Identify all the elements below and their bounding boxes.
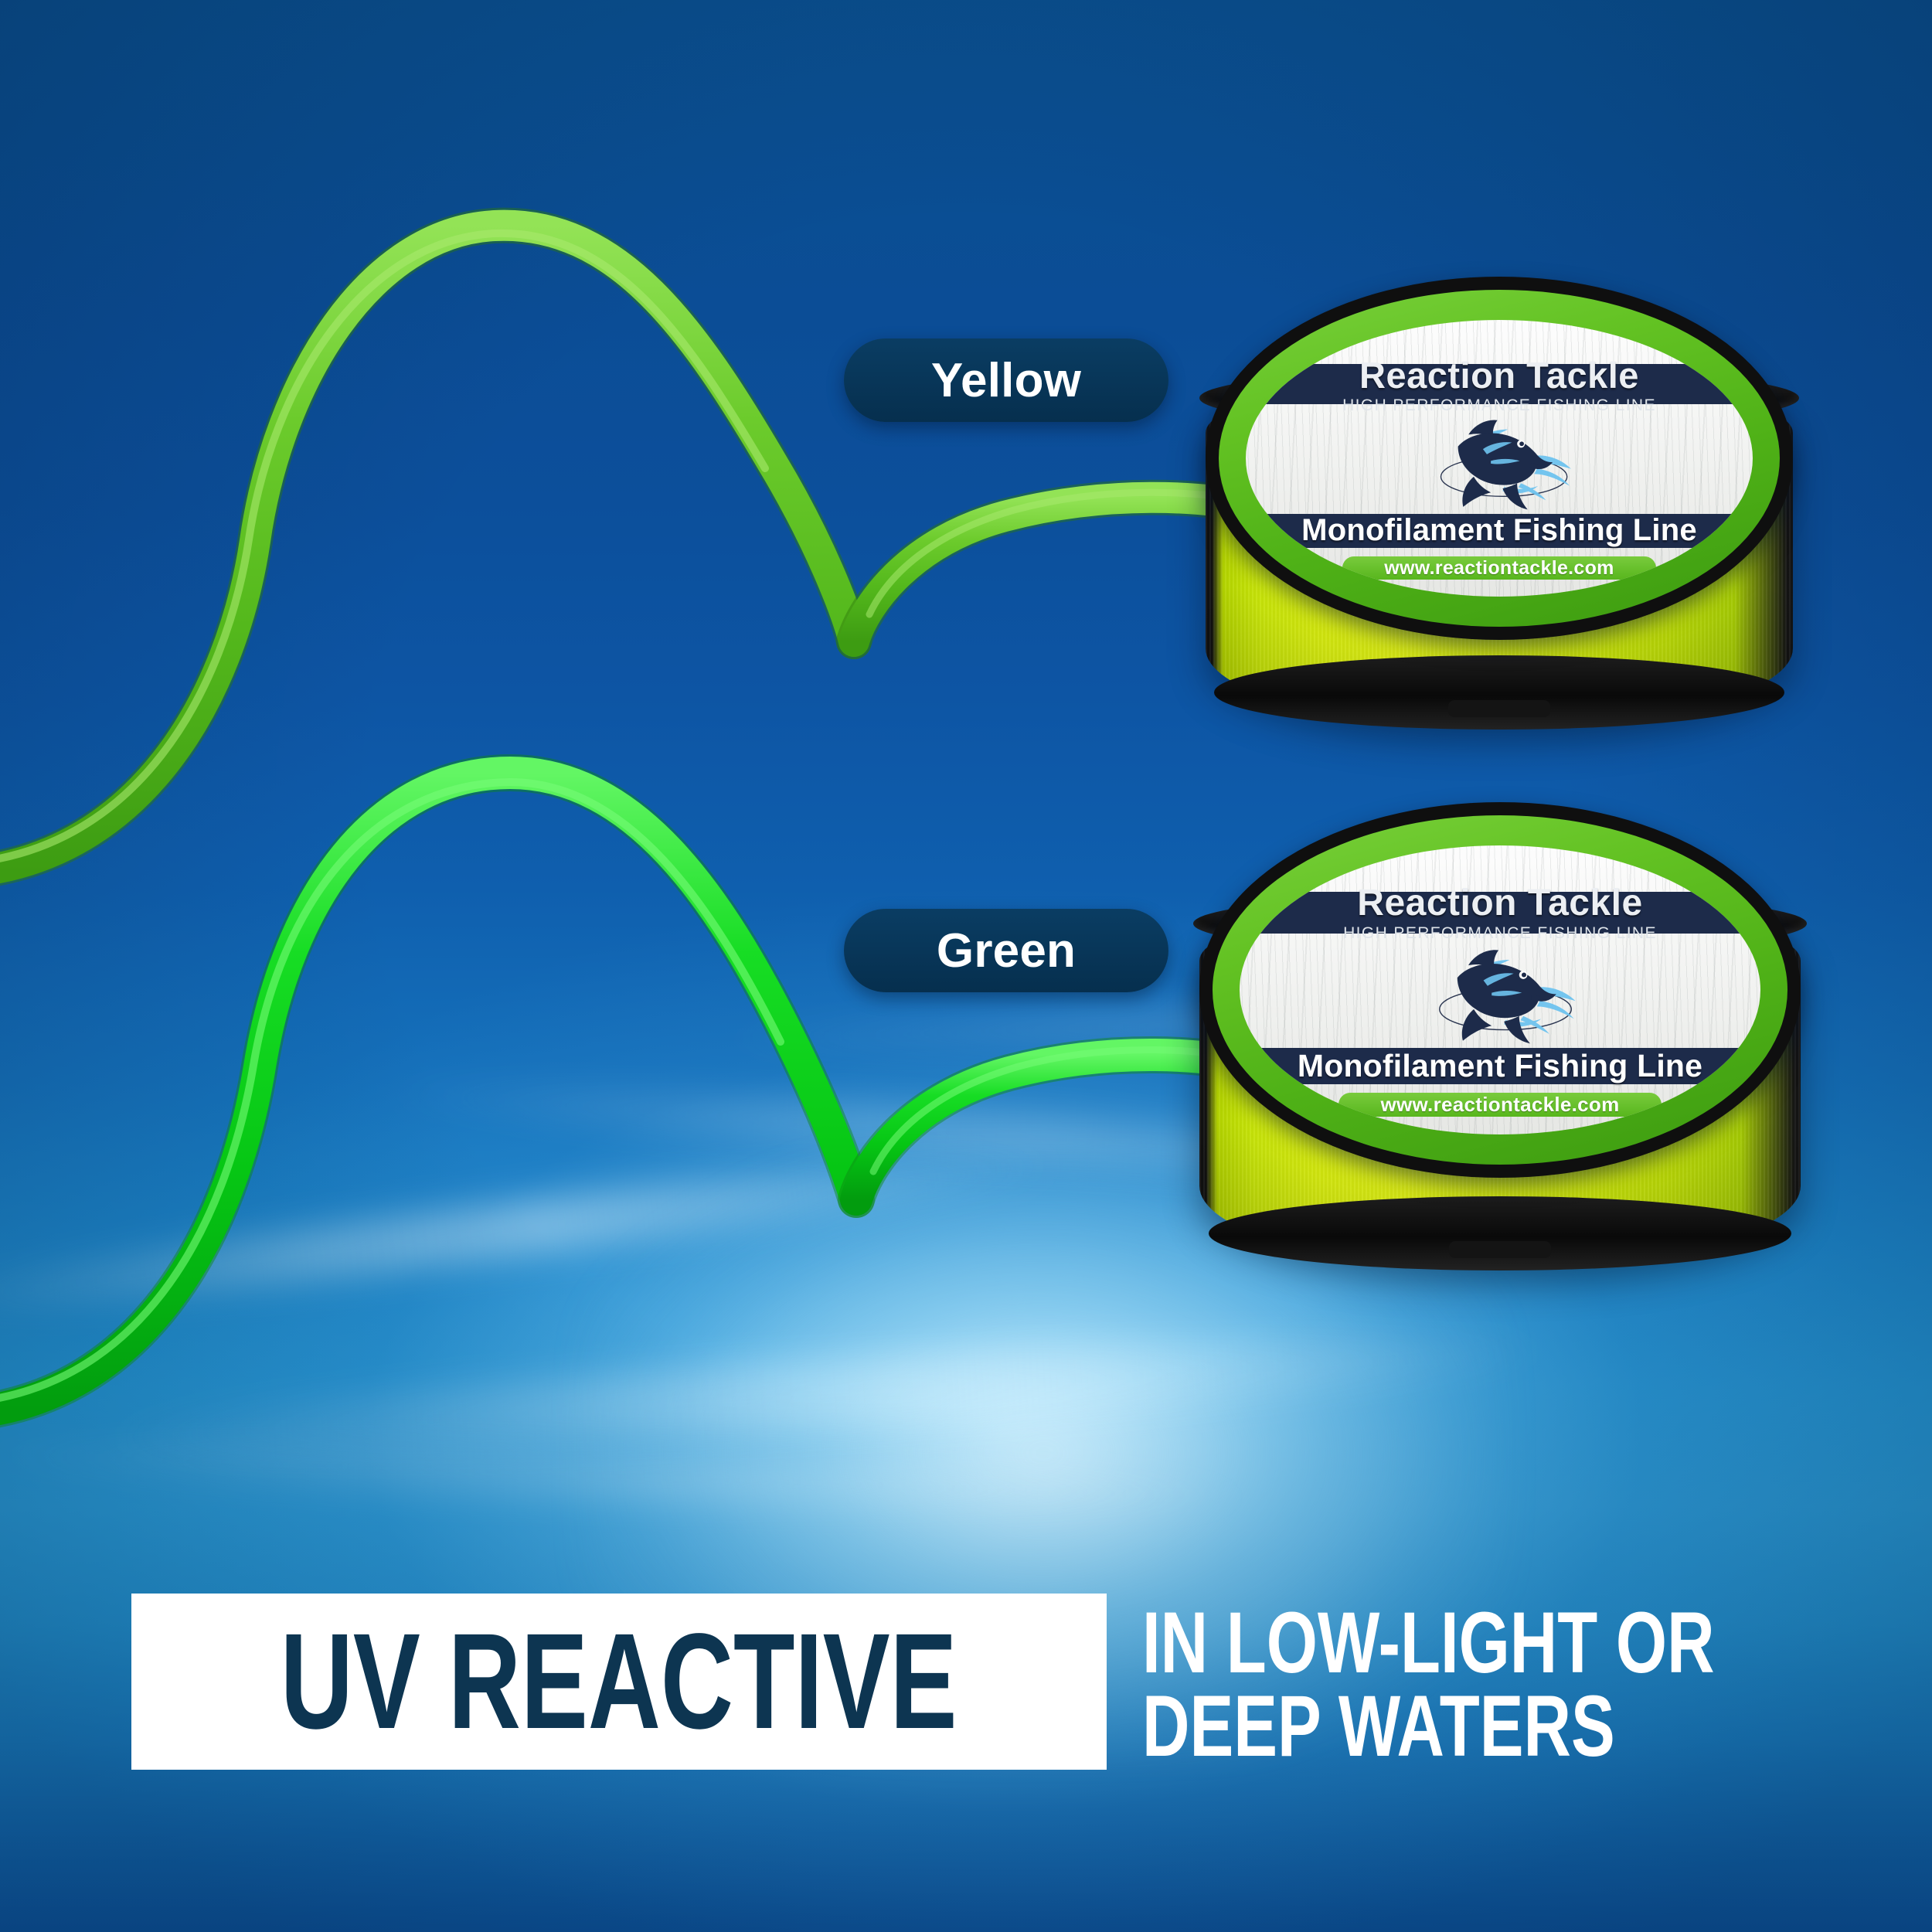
spool-notch — [1449, 1241, 1551, 1258]
label-url-pill[interactable]: www.reactiontackle.com — [1338, 1093, 1662, 1117]
brand-name: Reaction Tackle — [1359, 354, 1639, 396]
badge-yellow[interactable]: Yellow — [844, 338, 1168, 422]
spool-notch — [1448, 700, 1550, 717]
badge-green-label: Green — [937, 923, 1076, 978]
uv-reactive-text: UV REACTIVE — [281, 1604, 957, 1760]
badge-yellow-label: Yellow — [931, 353, 1081, 408]
label-product-bar: Monofilament Fishing Line — [1246, 514, 1753, 549]
badge-green[interactable]: Green — [844, 909, 1168, 992]
product-line-name: Monofilament Fishing Line — [1301, 513, 1697, 548]
subtitle-line-1: IN LOW-LIGHT OR — [1142, 1601, 1715, 1685]
product-line-name: Monofilament Fishing Line — [1298, 1048, 1702, 1084]
spool-label-disc: Reaction Tackle HIGH PERFORMANCE FISHING… — [1199, 802, 1801, 1178]
jumping-bass-icon — [1365, 935, 1646, 1045]
brand-name: Reaction Tackle — [1357, 882, 1642, 924]
green-spool[interactable]: Reaction Tackle HIGH PERFORMANCE FISHING… — [1199, 802, 1801, 1266]
yellow-line — [0, 226, 1267, 873]
label-face: Reaction Tackle HIGH PERFORMANCE FISHING… — [1240, 845, 1760, 1134]
label-brand-bar: Reaction Tackle HIGH PERFORMANCE FISHING… — [1240, 892, 1760, 934]
uv-reactive-box: UV REACTIVE — [131, 1594, 1107, 1770]
yellow-spool[interactable]: Reaction Tackle HIGH PERFORMANCE FISHING… — [1206, 277, 1793, 725]
spool-bottom-rim — [1214, 655, 1784, 730]
label-brand-bar: Reaction Tackle HIGH PERFORMANCE FISHING… — [1246, 364, 1753, 404]
label-product-bar: Monofilament Fishing Line — [1240, 1048, 1760, 1084]
headline-subtitle: IN LOW-LIGHT OR DEEP WATERS — [1142, 1601, 1895, 1767]
product-marketing-image: Reaction Tackle HIGH PERFORMANCE FISHING… — [0, 0, 1932, 1932]
label-url-pill[interactable]: www.reactiontackle.com — [1342, 556, 1657, 580]
subtitle-line-2: DEEP WATERS — [1142, 1685, 1715, 1768]
green-line — [0, 773, 1272, 1414]
spool-label-disc: Reaction Tackle HIGH PERFORMANCE FISHING… — [1206, 277, 1793, 640]
spool-bottom-rim — [1209, 1196, 1792, 1270]
jumping-bass-icon — [1367, 406, 1641, 511]
brand-url: www.reactiontackle.com — [1380, 1093, 1619, 1117]
label-face: Reaction Tackle HIGH PERFORMANCE FISHING… — [1246, 320, 1753, 597]
brand-url: www.reactiontackle.com — [1384, 557, 1614, 580]
